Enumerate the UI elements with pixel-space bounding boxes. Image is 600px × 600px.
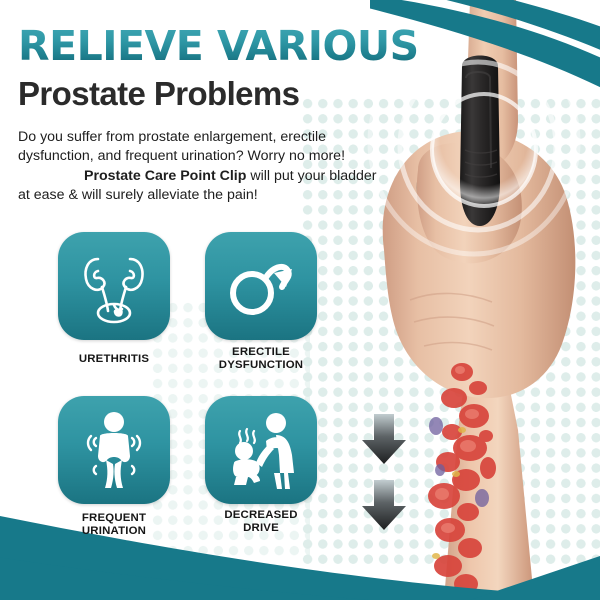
benefit-label-erectile-dysfunction: ERECTILE DYSFUNCTION bbox=[186, 346, 336, 373]
page-title: RELIEVE VARIOUS bbox=[18, 24, 419, 68]
body-copy: Do you suffer from prostate enlargement,… bbox=[18, 128, 370, 206]
benefit-label-urethritis: URETHRITIS bbox=[39, 353, 189, 366]
arrow-down-icon bbox=[362, 480, 406, 530]
benefit-label-frequent-urination: FREQUENT URINATION bbox=[39, 512, 189, 539]
product-name: Prostate Care Point Clip bbox=[84, 168, 246, 184]
body-line-1: Do you suffer from prostate enlargement,… bbox=[18, 128, 370, 147]
benefit-card-decreased-drive bbox=[205, 396, 317, 504]
kidneys-bladder-icon bbox=[78, 247, 150, 325]
benefit-label-line-2: DYSFUNCTION bbox=[186, 359, 336, 372]
advertisement-poster: RELIEVE VARIOUS Prostate Problems Do you… bbox=[0, 0, 600, 600]
benefit-label-line-1: DECREASED bbox=[186, 509, 336, 522]
benefit-label-decreased-drive: DECREASED DRIVE bbox=[186, 509, 336, 536]
corner-block-bottom-right bbox=[470, 530, 600, 600]
couple-icon bbox=[222, 411, 300, 489]
arrow-down-icon bbox=[362, 414, 406, 464]
downward-arrows bbox=[358, 412, 410, 534]
benefit-label-line-2: URINATION bbox=[39, 525, 189, 538]
benefit-card-erectile-dysfunction bbox=[205, 232, 317, 340]
page-subtitle: Prostate Problems bbox=[18, 76, 299, 112]
person-urgent-icon bbox=[80, 410, 148, 490]
body-line-4: at ease & will surely alleviate the pain… bbox=[18, 186, 370, 205]
body-line-3: Prostate Care Point Clip will put your b… bbox=[18, 167, 370, 186]
benefit-card-frequent-urination bbox=[58, 396, 170, 504]
benefit-label-line-1: FREQUENT bbox=[39, 512, 189, 525]
benefit-label-line-1: ERECTILE bbox=[186, 346, 336, 359]
male-symbol-icon bbox=[226, 253, 296, 319]
benefit-label-line-2: DRIVE bbox=[186, 522, 336, 535]
body-line-3-rest: will put your bladder bbox=[246, 168, 376, 184]
body-line-2: dysfunction, and frequent urination? Wor… bbox=[18, 147, 370, 166]
benefit-card-urethritis bbox=[58, 232, 170, 340]
